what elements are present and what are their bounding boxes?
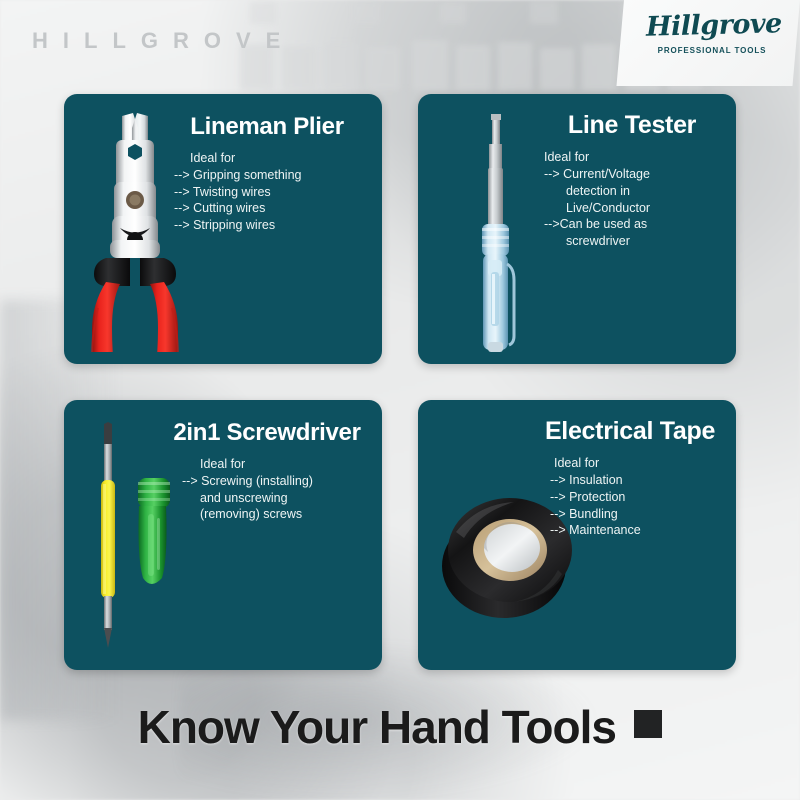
card-text-block: 2in1 Screwdriver Ideal for --> Screwing … [160,420,374,523]
footer-headline-row: Know Your Hand Tools [0,700,800,754]
card-ideal-label: Ideal for [544,149,720,166]
brand-logo-tagline: PROFESSIONAL TOOLS [646,46,778,55]
tool-card-line-tester[interactable]: Line Tester Ideal for --> Current/Voltag… [418,94,736,364]
list-item: --> Twisting wires [174,184,372,201]
card-title: Line Tester [544,112,720,138]
list-item: --> Stripping wires [174,217,372,234]
brand-wordmark: HILLGROVE [32,28,295,54]
card-bullet-list: --> Screwing (installing) and unscrewing… [160,473,374,523]
card-bullet-list: --> Current/Voltage detection in Live/Co… [544,166,720,250]
list-item: --> Cutting wires [174,200,372,217]
tool-card-lineman-plier[interactable]: Lineman Plier Ideal for --> Gripping som… [64,94,382,364]
list-item: --> Gripping something [174,167,372,184]
brand-logo: Hillgrove PROFESSIONAL TOOLS [646,12,778,55]
list-item: --> Current/Voltage [544,166,720,183]
card-title: 2in1 Screwdriver [160,420,374,445]
tool-card-2in1-screwdriver[interactable]: 2in1 Screwdriver Ideal for --> Screwing … [64,400,382,670]
card-text-block: Lineman Plier Ideal for --> Gripping som… [162,114,372,234]
card-bullet-list: --> Insulation --> Protection --> Bundli… [538,472,722,539]
headline-square-marker [634,710,662,738]
line-tester-photo [462,112,534,356]
list-item: detection in [544,183,720,200]
card-ideal-label: Ideal for [538,455,722,472]
card-title: Electrical Tape [538,418,722,444]
list-item: --> Protection [550,489,722,506]
list-item: screwdriver [544,233,720,250]
card-ideal-label: Ideal for [162,150,372,167]
list-item: (removing) screws [182,506,374,523]
list-item: --> Maintenance [550,522,722,539]
card-text-block: Line Tester Ideal for --> Current/Voltag… [544,112,720,250]
page-header: HILLGROVE Hillgrove PROFESSIONAL TOOLS [0,0,800,88]
card-bullet-list: --> Gripping something --> Twisting wire… [162,167,372,234]
list-item: and unscrewing [182,490,374,507]
tool-card-electrical-tape[interactable]: Electrical Tape Ideal for --> Insulation… [418,400,736,670]
card-ideal-label: Ideal for [160,456,374,473]
page-title: Know Your Hand Tools [138,700,616,754]
list-item: --> Bundling [550,506,722,523]
card-title: Lineman Plier [162,114,372,139]
list-item: -->Can be used as [544,216,720,233]
list-item: --> Insulation [550,472,722,489]
list-item: Live/Conductor [544,200,720,217]
tool-card-grid: Lineman Plier Ideal for --> Gripping som… [64,94,736,660]
card-text-block: Electrical Tape Ideal for --> Insulation… [538,418,722,539]
list-item: --> Screwing (installing) [182,473,374,490]
brand-logo-script: Hillgrove [646,10,779,40]
